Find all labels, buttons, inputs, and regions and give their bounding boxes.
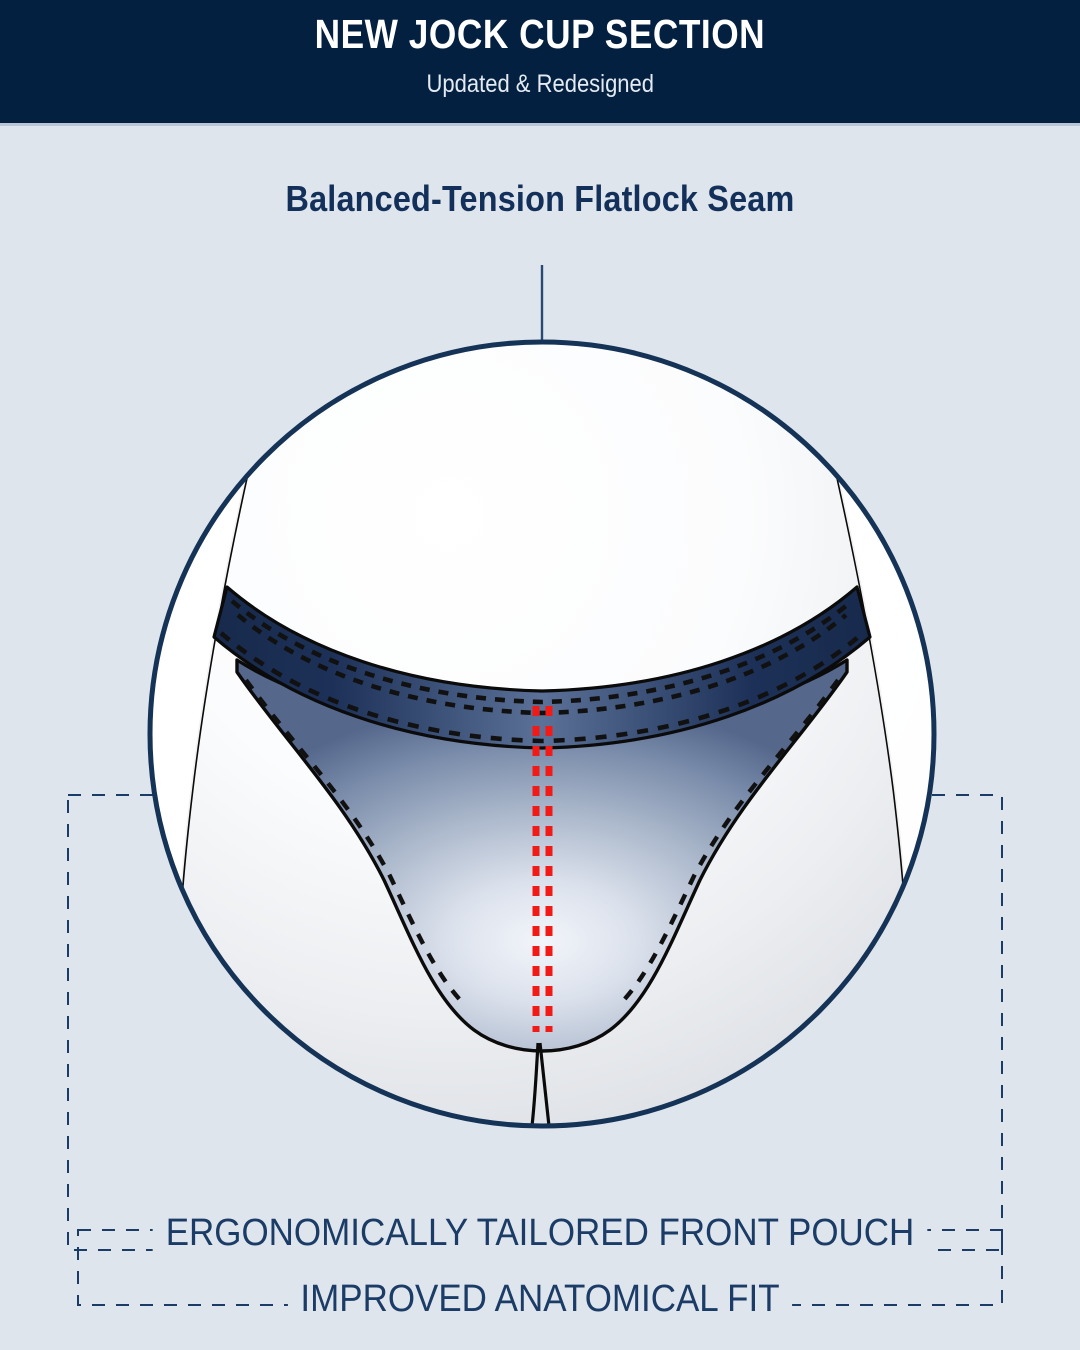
callout-label-fit: IMPROVED ANATOMICAL FIT <box>43 1278 1037 1321</box>
callout-label-pouch-text: ERGONOMICALLY TAILORED FRONT POUCH <box>153 1212 927 1254</box>
jock-cup-diagram <box>0 0 1080 1350</box>
detail-circle <box>150 342 934 1126</box>
callout-label-fit-text: IMPROVED ANATOMICAL FIT <box>288 1278 793 1320</box>
infographic-page: NEW JOCK CUP SECTION Updated & Redesigne… <box>0 0 1080 1350</box>
callout-label-pouch: ERGONOMICALLY TAILORED FRONT POUCH <box>43 1212 1037 1255</box>
